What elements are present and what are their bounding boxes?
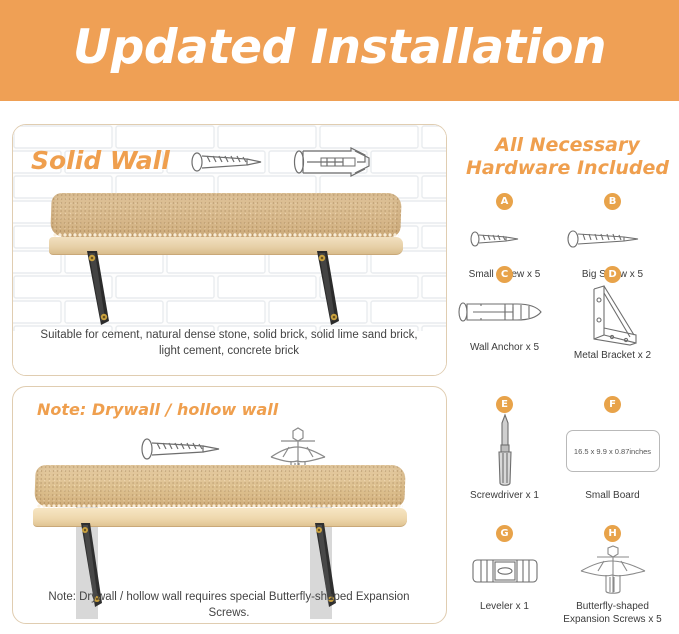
hardware-item-g: G Leveler x 1 <box>452 525 557 613</box>
hardware-label-c: Wall Anchor x 5 <box>452 341 557 354</box>
hardware-item-e: E Screwdriver x 1 <box>452 396 557 502</box>
small-screw-icon <box>452 210 557 268</box>
hardware-section-title: All Necessary Hardware Included <box>460 134 675 180</box>
hardware-label-d: Metal Bracket x 2 <box>560 349 665 362</box>
hardware-label-f: Small Board <box>560 489 665 502</box>
solid-wall-note: Suitable for cement, natural dense stone… <box>29 327 429 359</box>
badge-c: C <box>496 266 513 283</box>
badge-e: E <box>496 396 513 413</box>
page-title: Updated Installation <box>0 20 679 75</box>
metal-bracket-icon <box>560 283 665 349</box>
small-board-icon: 16.5 x 9.9 x 0.87inches <box>566 430 660 472</box>
screwdriver-icon <box>452 413 557 489</box>
bracket-left <box>83 251 143 331</box>
badge-g: G <box>496 525 513 542</box>
wall-anchor-icon <box>452 283 557 341</box>
hardware-item-h: H Butterfly-shaped Expansion Screws x 5 <box>560 525 665 626</box>
solid-wall-title: Solid Wall <box>31 146 170 175</box>
badge-b: B <box>604 193 621 210</box>
hardware-label-h: Butterfly-shaped Expansion Screws x 5 <box>560 600 665 626</box>
shelf-illustration-drywall <box>13 387 446 607</box>
hardware-item-c: C Wall Anchor x 5 <box>452 266 557 354</box>
solid-wall-panel: Solid Wall <box>12 124 447 376</box>
header-banner: Updated Installation <box>0 0 679 101</box>
leveler-icon <box>452 542 557 600</box>
infographic-page: Updated Installation Solid W <box>0 0 679 634</box>
hardware-title-line1: All Necessary <box>495 134 639 156</box>
hardware-label-e: Screwdriver x 1 <box>452 489 557 502</box>
badge-d: D <box>604 266 621 283</box>
drywall-panel: Note: Drywall / hollow wall <box>12 386 447 624</box>
hardware-item-f: F 16.5 x 9.9 x 0.87inches Small Board <box>560 396 665 502</box>
bracket-right <box>313 251 373 331</box>
badge-f: F <box>604 396 621 413</box>
butterfly-screw-icon <box>560 542 665 600</box>
drywall-note: Note: Drywall / hollow wall requires spe… <box>29 589 429 621</box>
hardware-label-g: Leveler x 1 <box>452 600 557 613</box>
hardware-item-d: D Metal Bracket x 2 <box>560 266 665 362</box>
badge-a: A <box>496 193 513 210</box>
badge-h: H <box>604 525 621 542</box>
big-screw-icon <box>560 210 665 268</box>
hardware-title-line2: Hardware Included <box>466 157 669 179</box>
board-dimensions: 16.5 x 9.9 x 0.87inches <box>574 447 651 456</box>
